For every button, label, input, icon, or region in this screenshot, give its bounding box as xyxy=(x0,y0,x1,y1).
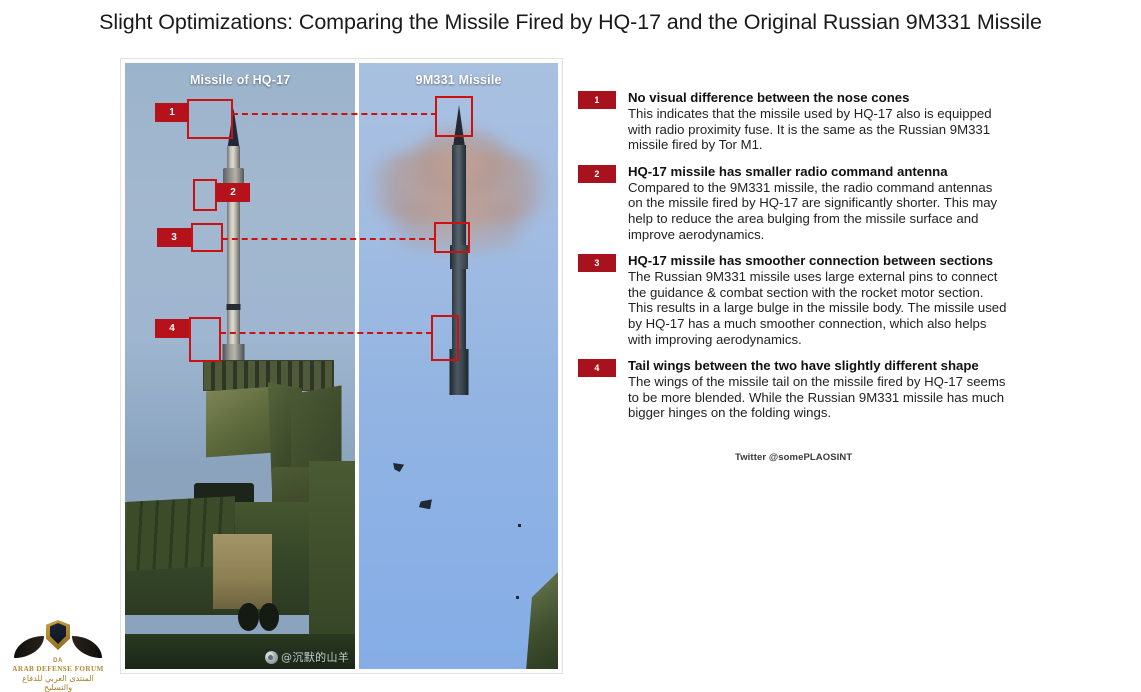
debris-speck xyxy=(518,524,521,527)
note-body-1: This indicates that the missile used by … xyxy=(628,106,1008,153)
annotation-dash-1 xyxy=(232,113,437,115)
hq17-band-lower xyxy=(226,304,240,310)
credit-line: Twitter @somePLAOSINT xyxy=(735,452,852,463)
annotation-box-4-left xyxy=(189,317,221,362)
logo-name-english: ARAB DEFENSE FORUM xyxy=(12,665,104,673)
annotation-badge-2: 2 xyxy=(216,183,250,202)
wreath-wing-left-icon xyxy=(14,636,44,658)
hq17-launcher-vehicle xyxy=(125,354,355,669)
annotation-badge-4: 4 xyxy=(155,319,189,338)
vehicle-radar-panel xyxy=(206,386,273,457)
note-title-3: HQ-17 missile has smoother connection be… xyxy=(628,253,1008,268)
annotation-box-3-left xyxy=(191,223,223,252)
comparison-figure: Missile of HQ-17 @沉默的山羊 9M33 xyxy=(120,58,563,674)
annotation-dash-3 xyxy=(222,238,435,240)
arab-defense-forum-logo: DA ARAB DEFENSE FORUM المنتدى العربي للد… xyxy=(12,618,104,684)
note-badge-3: 3 xyxy=(578,254,616,272)
vehicle-tan-section xyxy=(213,534,273,610)
note-title-2: HQ-17 missile has smaller radio command … xyxy=(628,164,1008,179)
vehicle-wheel xyxy=(259,603,280,631)
note-title-1: No visual difference between the nose co… xyxy=(628,90,1008,105)
note-body-4: The wings of the missile tail on the mis… xyxy=(628,374,1008,421)
annotation-box-1-right xyxy=(435,96,473,137)
hq17-missile-graphic xyxy=(227,108,240,386)
note-badge-2: 2 xyxy=(578,165,616,183)
note-body-2: Compared to the 9M331 missile, the radio… xyxy=(628,180,1008,242)
annotation-box-1-left xyxy=(187,99,233,139)
caption-hq17: Missile of HQ-17 xyxy=(125,73,355,87)
wreath-wing-right-icon xyxy=(72,636,102,658)
annotation-box-2-left xyxy=(193,179,217,211)
note-title-4: Tail wings between the two have slightly… xyxy=(628,358,1008,373)
caption-9m331: 9M331 Missile xyxy=(359,73,558,87)
vehicle-wheel xyxy=(238,603,259,631)
logo-name-arabic: المنتدى العربي للدفاع والتسليح xyxy=(12,674,104,692)
photo-9m331: 9M331 Missile xyxy=(355,63,558,669)
weibo-icon xyxy=(265,651,278,664)
page-title: Slight Optimizations: Comparing the Miss… xyxy=(0,10,1141,35)
figure-inner: Missile of HQ-17 @沉默的山羊 9M33 xyxy=(125,63,558,669)
debris-speck xyxy=(516,596,519,599)
note-badge-1: 1 xyxy=(578,91,616,109)
annotation-dash-4 xyxy=(220,332,432,334)
weibo-watermark: @沉默的山羊 xyxy=(265,649,349,665)
photo-hq17: Missile of HQ-17 @沉默的山羊 xyxy=(125,63,355,669)
weibo-handle: @沉默的山羊 xyxy=(281,649,349,665)
note-body-3: The Russian 9M331 missile uses large ext… xyxy=(628,269,1008,347)
annotation-badge-1: 1 xyxy=(155,103,189,122)
annotation-notes-list: 1 No visual difference between the nose … xyxy=(578,90,1008,432)
annotation-box-4-right xyxy=(431,315,459,361)
note-item-1: 1 No visual difference between the nose … xyxy=(578,90,1008,153)
logo-abbrev: DA xyxy=(12,658,104,664)
note-item-4: 4 Tail wings between the two have slight… xyxy=(578,358,1008,421)
annotation-box-3-right xyxy=(434,222,470,253)
note-item-3: 3 HQ-17 missile has smoother connection … xyxy=(578,253,1008,347)
annotation-badge-3: 3 xyxy=(157,228,191,247)
note-item-2: 2 HQ-17 missile has smaller radio comman… xyxy=(578,164,1008,242)
note-badge-4: 4 xyxy=(578,359,616,377)
